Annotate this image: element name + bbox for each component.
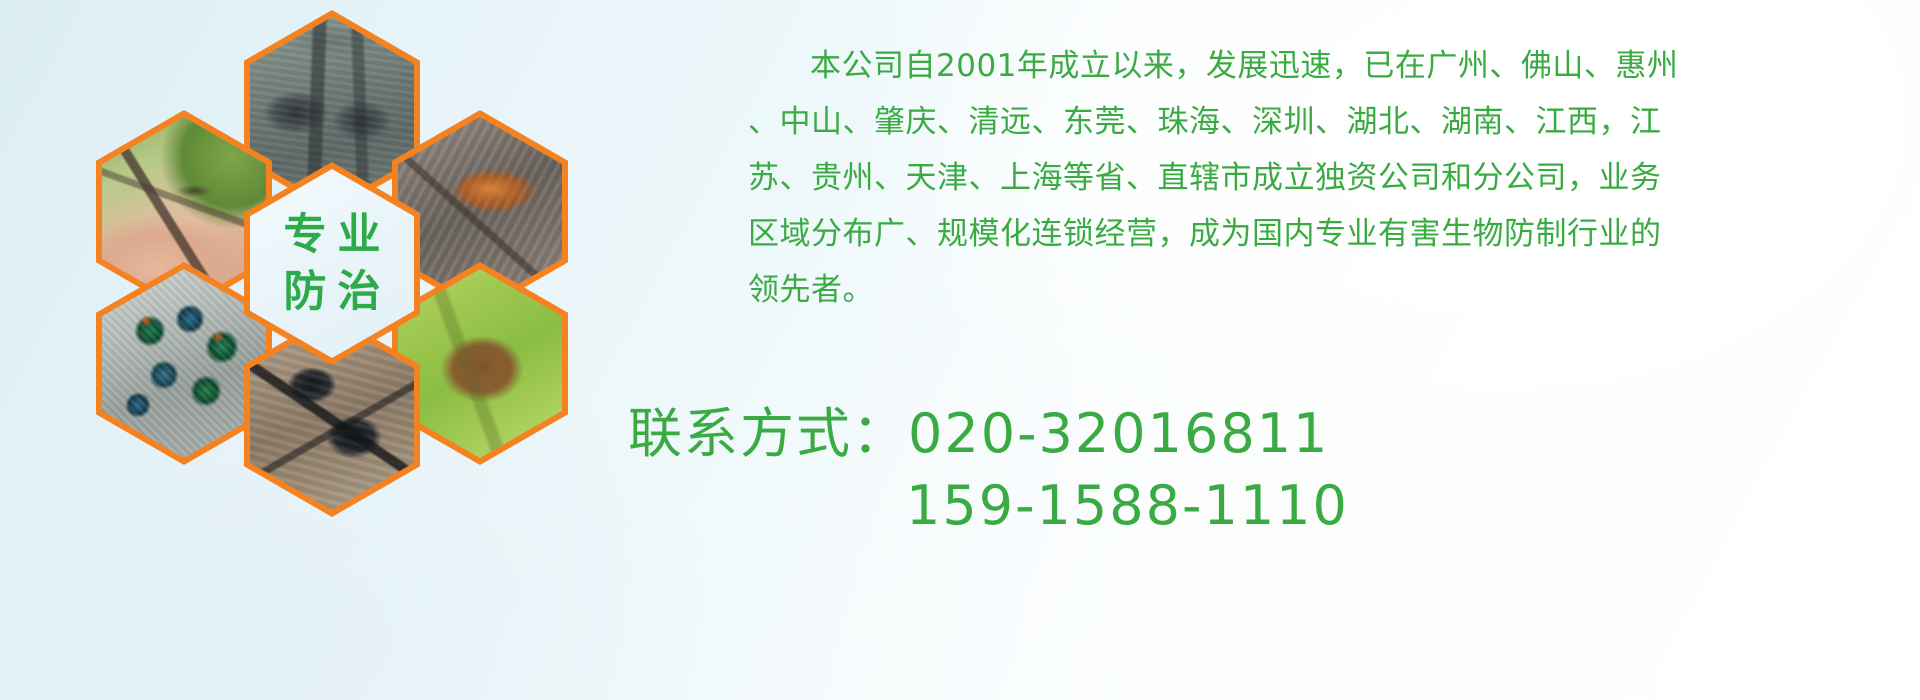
flies-photo bbox=[102, 269, 266, 458]
intro-line-5: 领先者。 bbox=[748, 262, 1908, 318]
center-label-line2: 防治 bbox=[273, 271, 392, 314]
intro-line-2: 、中山、肇庆、清远、东莞、珠海、深圳、湖北、湖南、江西，江 bbox=[748, 94, 1908, 150]
contact-line-landline[interactable]: 联系方式：020-32016811 bbox=[628, 398, 1918, 470]
company-intro-paragraph: 本公司自2001年成立以来，发展迅速，已在广州、佛山、惠州 、中山、肇庆、清远、… bbox=[748, 38, 1908, 318]
contact-info: 联系方式：020-32016811 159-1588-1110 bbox=[628, 398, 1918, 542]
hexagon-photo-cluster: 专业 防治 bbox=[96, 10, 616, 570]
intro-line-3: 苏、贵州、天津、上海等省、直辖市成立独资公司和分公司，业务 bbox=[748, 150, 1908, 206]
intro-line-4: 区域分布广、规模化连锁经营，成为国内专业有害生物防制行业的 bbox=[748, 206, 1908, 262]
intro-line-1: 本公司自2001年成立以来，发展迅速，已在广州、佛山、惠州 bbox=[748, 38, 1908, 94]
pest-control-banner: 专业 防治 本公司自2001年成立以来，发展迅速，已在广州、佛山、惠州 、中山、… bbox=[0, 0, 1920, 700]
contact-line-mobile[interactable]: 159-1588-1110 bbox=[628, 470, 1918, 542]
banner-content: 本公司自2001年成立以来，发展迅速，已在广州、佛山、惠州 、中山、肇庆、清远、… bbox=[748, 0, 1920, 700]
stinkbug-photo bbox=[398, 269, 562, 458]
center-label-line1: 专业 bbox=[273, 214, 392, 257]
